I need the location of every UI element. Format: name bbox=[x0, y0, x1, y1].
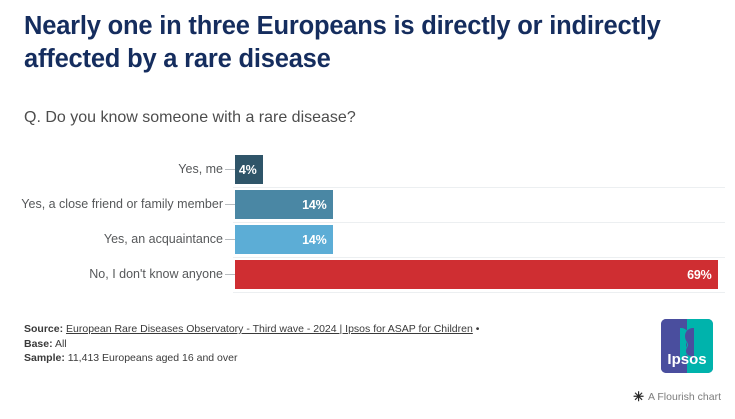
bar-value-label: 69% bbox=[687, 268, 717, 282]
bar-chart: Yes, me 4% Yes, a close friend or family… bbox=[0, 152, 735, 300]
footer-base-line: Base: All bbox=[24, 337, 584, 352]
flourish-credit-label: A Flourish chart bbox=[648, 391, 721, 403]
bar-track: 14% bbox=[235, 222, 735, 257]
bar-category-label: Yes, an acquaintance bbox=[0, 233, 223, 247]
footer-notes: Source: European Rare Diseases Observato… bbox=[24, 322, 584, 366]
bar-track: 14% bbox=[235, 187, 735, 222]
bar-track: 69% bbox=[235, 257, 735, 292]
bar-rows: Yes, me 4% Yes, a close friend or family… bbox=[0, 152, 735, 292]
axis-tick bbox=[225, 204, 235, 205]
source-suffix: • bbox=[476, 323, 480, 335]
bar-value-label: 4% bbox=[239, 163, 263, 177]
source-value[interactable]: European Rare Diseases Observatory - Thi… bbox=[66, 323, 473, 335]
bar-dont-know-anyone[interactable]: 69% bbox=[235, 260, 718, 289]
ipsos-logo-icon: Ipsos bbox=[661, 319, 713, 373]
bar-row[interactable]: Yes, me 4% bbox=[0, 152, 735, 187]
sample-label: Sample: bbox=[24, 352, 65, 364]
footer-source-line: Source: European Rare Diseases Observato… bbox=[24, 322, 584, 337]
base-value: All bbox=[55, 338, 67, 350]
axis-tick bbox=[225, 274, 235, 275]
bar-row[interactable]: Yes, a close friend or family member 14% bbox=[0, 187, 735, 222]
bar-category-label: No, I don't know anyone bbox=[0, 268, 223, 282]
bar-track: 4% bbox=[235, 152, 735, 187]
ipsos-logo: Ipsos bbox=[661, 319, 713, 373]
bar-value-label: 14% bbox=[302, 198, 332, 212]
svg-text:Ipsos: Ipsos bbox=[667, 351, 706, 368]
bar-yes-me[interactable]: 4% bbox=[235, 155, 263, 184]
bar-row[interactable]: No, I don't know anyone 69% bbox=[0, 257, 735, 292]
axis-tick bbox=[225, 169, 235, 170]
bar-value-label: 14% bbox=[302, 233, 332, 247]
bar-category-label: Yes, a close friend or family member bbox=[0, 198, 223, 212]
axis-tick bbox=[225, 239, 235, 240]
gridline bbox=[233, 292, 725, 293]
chart-subtitle: Q. Do you know someone with a rare disea… bbox=[24, 107, 356, 128]
bar-row[interactable]: Yes, an acquaintance 14% bbox=[0, 222, 735, 257]
bar-category-label: Yes, me bbox=[0, 163, 223, 177]
base-label: Base: bbox=[24, 338, 53, 350]
bar-close-friend-family[interactable]: 14% bbox=[235, 190, 333, 219]
source-label: Source: bbox=[24, 323, 63, 335]
footer-sample-line: Sample: 11,413 Europeans aged 16 and ove… bbox=[24, 351, 584, 366]
asterisk-icon: ✳ bbox=[633, 390, 644, 403]
page-title: Nearly one in three Europeans is directl… bbox=[24, 10, 684, 76]
sample-value: 11,413 Europeans aged 16 and over bbox=[68, 352, 238, 364]
flourish-chart-page: Nearly one in three Europeans is directl… bbox=[0, 0, 735, 419]
flourish-credit[interactable]: ✳ A Flourish chart bbox=[633, 390, 721, 403]
bar-acquaintance[interactable]: 14% bbox=[235, 225, 333, 254]
